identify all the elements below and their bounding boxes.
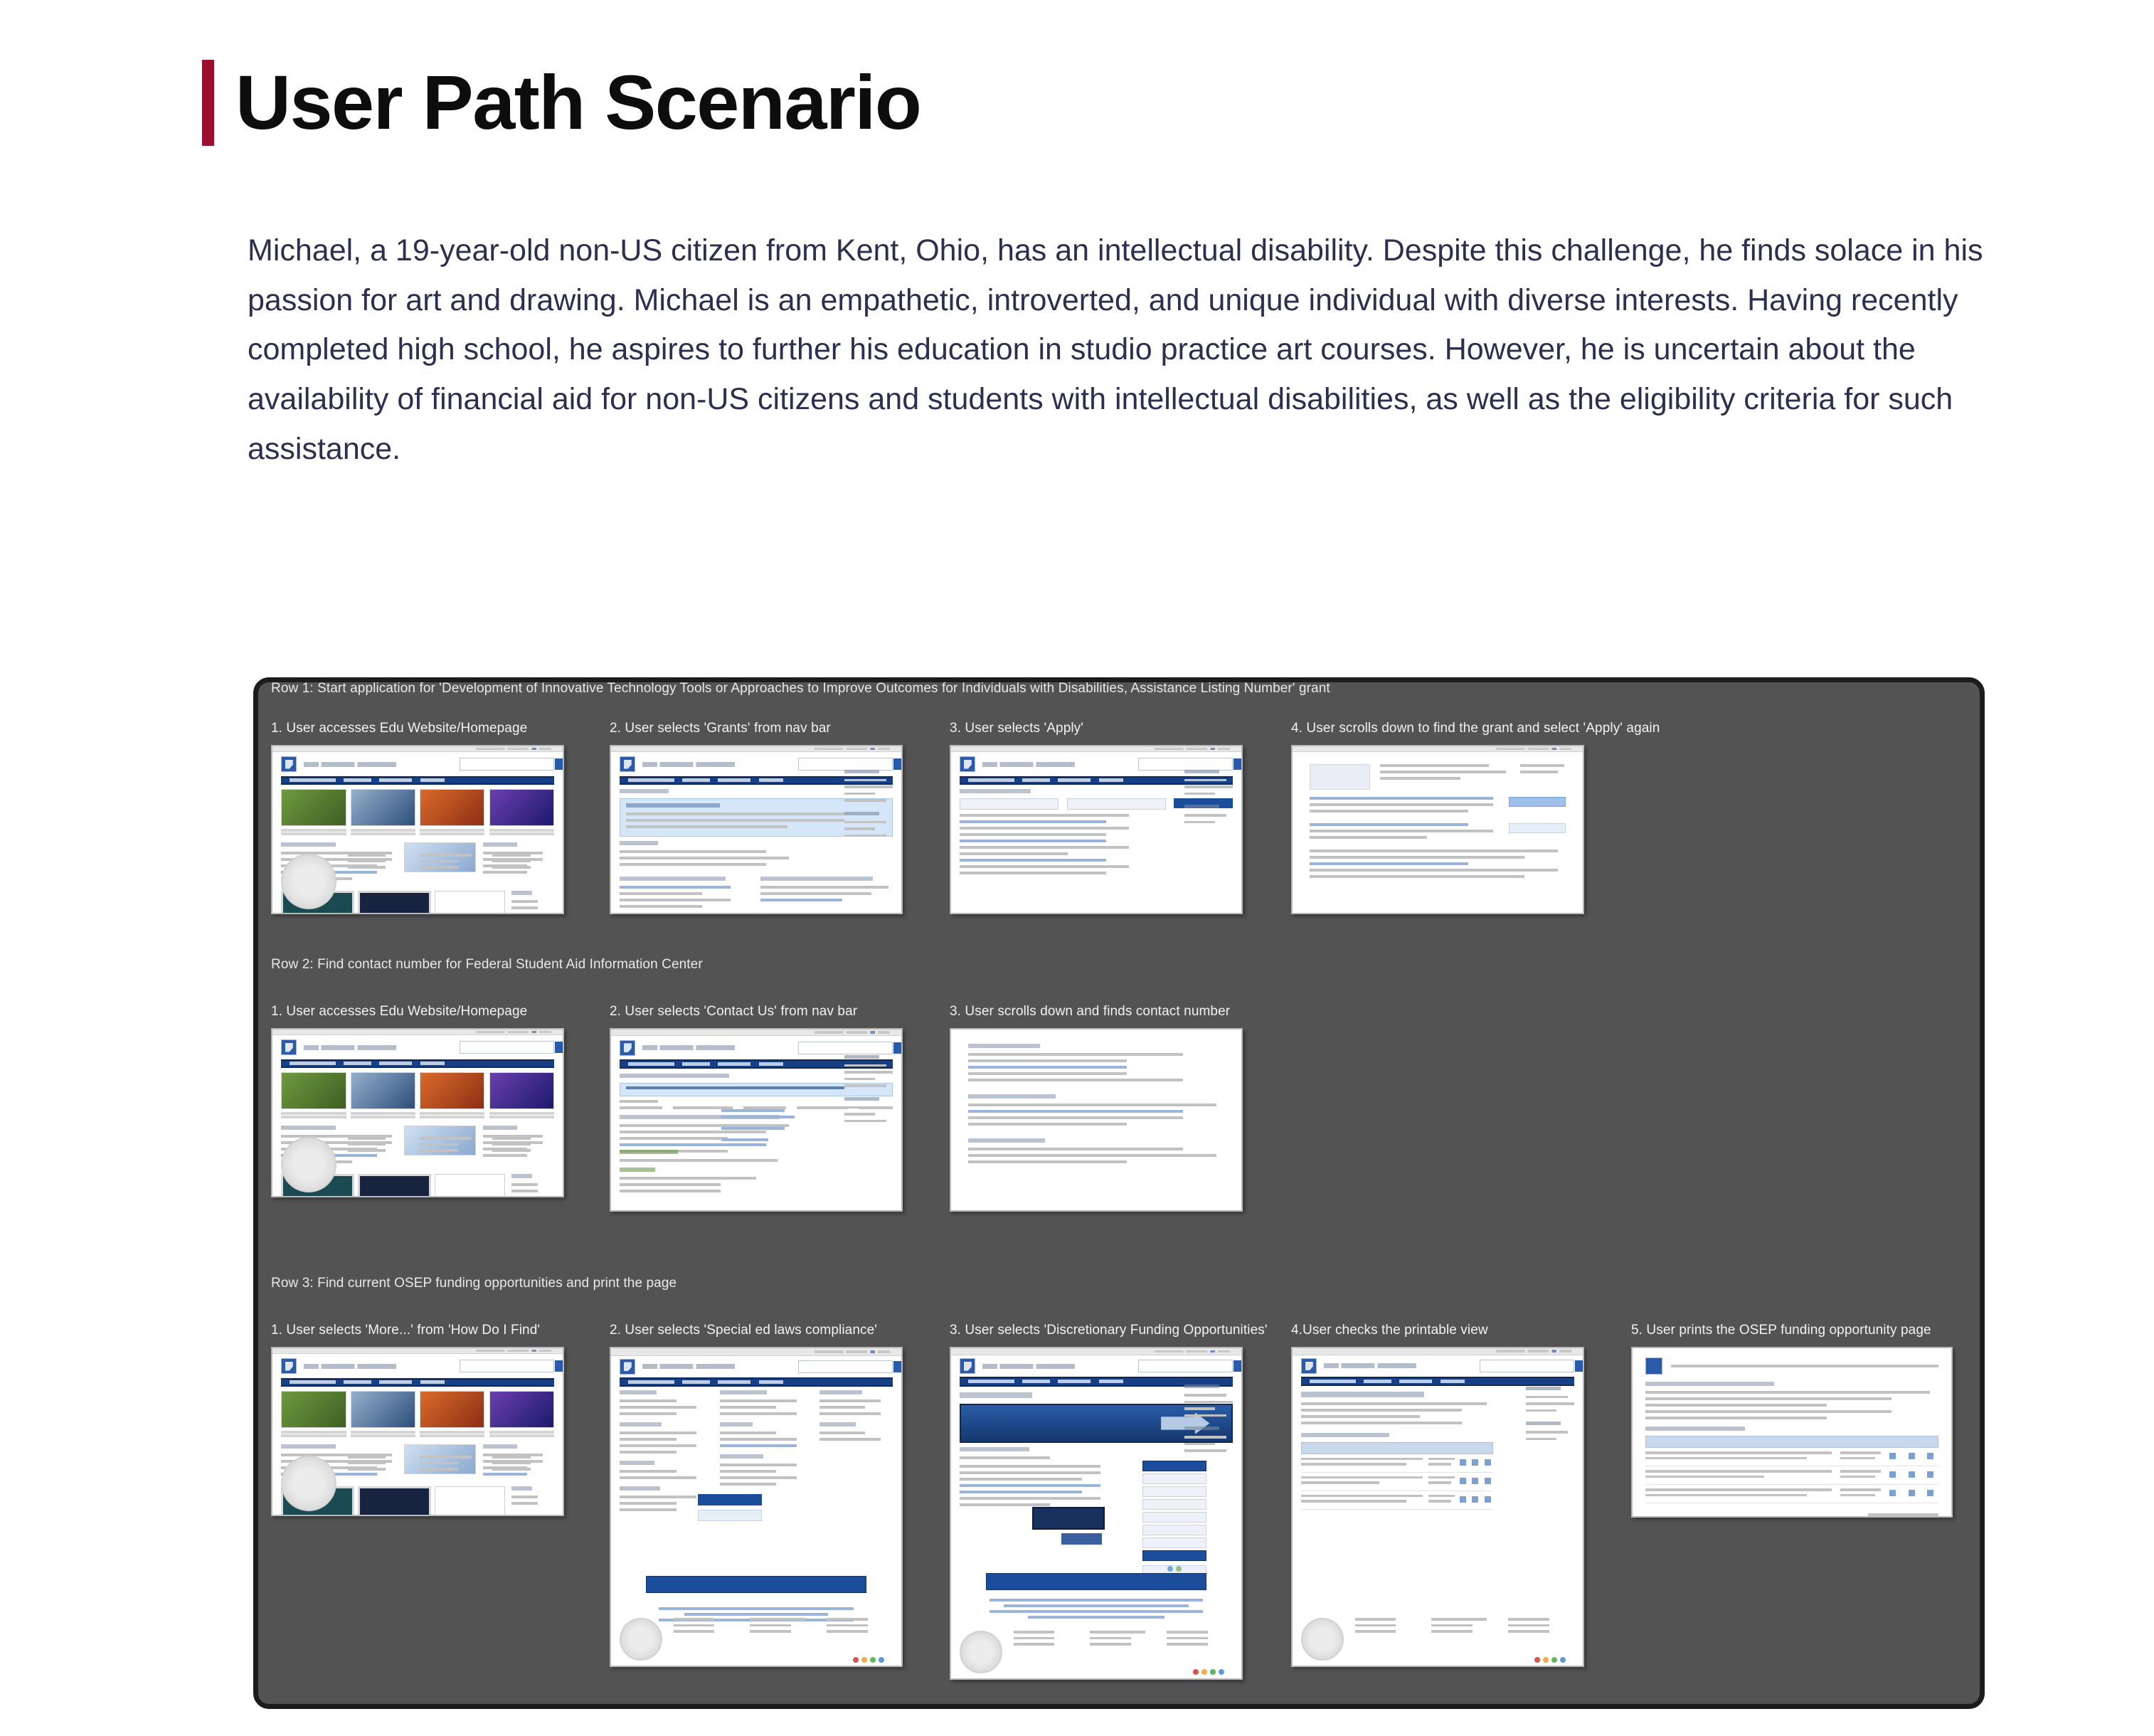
az-link[interactable] xyxy=(720,1470,777,1473)
social-icon-4[interactable] xyxy=(1560,1657,1566,1663)
programs-links xyxy=(986,1599,1206,1619)
social-icon-4[interactable] xyxy=(1219,1669,1224,1675)
funding-heading xyxy=(1301,1392,1423,1397)
main-nav[interactable] xyxy=(1301,1377,1574,1386)
main-nav[interactable] xyxy=(620,1377,893,1387)
site-header xyxy=(272,752,563,776)
cell-title xyxy=(1645,1451,1837,1462)
nav-item-3[interactable] xyxy=(718,778,750,782)
thumbnail-r3s2[interactable] xyxy=(610,1347,903,1667)
nav-item-1[interactable] xyxy=(290,1380,336,1384)
az-link[interactable] xyxy=(720,1438,797,1441)
nav-item-2[interactable] xyxy=(682,1380,709,1384)
result-link[interactable] xyxy=(960,820,1106,823)
line xyxy=(960,1497,1100,1500)
result-link[interactable] xyxy=(960,840,1106,842)
side-nav-item[interactable] xyxy=(1142,1473,1206,1484)
side-nav-item[interactable] xyxy=(1142,1525,1206,1535)
az-link[interactable] xyxy=(819,1431,865,1434)
osep-side-nav[interactable] xyxy=(1142,1461,1206,1578)
section-link[interactable] xyxy=(760,899,842,901)
az-link[interactable] xyxy=(620,1406,696,1409)
az-link[interactable] xyxy=(720,1399,797,1402)
footer-col-2 xyxy=(420,1137,482,1155)
hero-caption-1 xyxy=(281,1431,346,1437)
side-nav-item[interactable] xyxy=(1142,1512,1206,1523)
col-heading xyxy=(720,1390,768,1394)
hero-cards xyxy=(272,785,563,826)
primary-button[interactable] xyxy=(698,1494,762,1505)
full-grants-column xyxy=(760,877,893,911)
search-input[interactable] xyxy=(1480,1360,1574,1372)
footer-col-3 xyxy=(492,854,554,872)
rail-link[interactable] xyxy=(1184,821,1215,824)
search-input[interactable] xyxy=(798,1360,892,1373)
line xyxy=(1645,1417,1827,1419)
program-link[interactable] xyxy=(1004,1604,1189,1607)
nav-item-2[interactable] xyxy=(682,1062,709,1066)
social-icon-1[interactable] xyxy=(853,1657,859,1663)
contact-link[interactable] xyxy=(721,1127,785,1130)
az-link[interactable] xyxy=(620,1399,677,1402)
az-link[interactable] xyxy=(620,1431,696,1434)
share-icon-2[interactable] xyxy=(1176,1566,1182,1572)
hero-card-3[interactable] xyxy=(420,1072,484,1109)
rail-link[interactable] xyxy=(1184,814,1226,817)
hero-card-4[interactable] xyxy=(489,1391,554,1428)
hero-caption-1 xyxy=(281,1112,346,1118)
nav-item-4[interactable] xyxy=(420,1380,445,1384)
browser-chrome xyxy=(611,1348,901,1356)
print-header xyxy=(1645,1357,1938,1375)
line xyxy=(620,1183,721,1186)
how-do-i-find-heading xyxy=(483,842,517,847)
step-caption-r3s1: 1. User selects 'More...' from 'How Do I… xyxy=(271,1323,540,1338)
social-icons[interactable] xyxy=(853,1657,884,1663)
search-input[interactable] xyxy=(460,1041,553,1054)
az-link[interactable] xyxy=(620,1502,677,1505)
social-icons[interactable] xyxy=(1193,1669,1224,1675)
hero-card-4[interactable] xyxy=(489,789,554,826)
contact-number[interactable] xyxy=(968,1110,1183,1113)
thumbnail-r3s5[interactable] xyxy=(1631,1347,1953,1518)
result-line xyxy=(960,846,1128,849)
nav-item-1[interactable] xyxy=(628,1062,674,1066)
rail-link[interactable] xyxy=(1184,1414,1226,1417)
hero-card-3[interactable] xyxy=(420,1391,484,1428)
line xyxy=(960,1471,1100,1474)
rail-link[interactable] xyxy=(1526,1438,1556,1441)
callout-link[interactable] xyxy=(626,813,844,815)
site-name xyxy=(982,1364,1075,1369)
side-nav-item-selected[interactable] xyxy=(1142,1461,1206,1471)
competitions-table xyxy=(1301,1442,1492,1510)
program-link[interactable] xyxy=(1028,1616,1164,1619)
az-link[interactable] xyxy=(819,1406,865,1409)
secondary-button[interactable] xyxy=(698,1510,762,1521)
line xyxy=(1310,836,1426,839)
line xyxy=(1310,810,1468,813)
chrome-controls xyxy=(815,748,890,750)
how-do-i-find-heading xyxy=(483,1444,517,1449)
main-nav[interactable] xyxy=(281,1059,554,1068)
cell-dates xyxy=(1840,1451,1882,1462)
hero-card-1[interactable] xyxy=(281,1072,346,1109)
line xyxy=(968,1059,1127,1062)
program-link[interactable] xyxy=(990,1599,1204,1602)
link[interactable] xyxy=(1310,862,1468,865)
cell-check xyxy=(1458,1476,1468,1487)
nav-item-2[interactable] xyxy=(1022,778,1049,782)
how-do-i-find-heading xyxy=(1184,1385,1219,1388)
nav-item-1[interactable] xyxy=(628,1380,674,1384)
az-link[interactable] xyxy=(620,1470,677,1473)
table-header xyxy=(1301,1442,1492,1454)
az-link[interactable] xyxy=(620,1451,677,1454)
rail-link[interactable] xyxy=(844,821,886,824)
nav-item-2[interactable] xyxy=(344,1062,371,1065)
apply-cell xyxy=(1509,797,1566,816)
nav-item-1[interactable] xyxy=(290,1062,336,1065)
social-icon-4[interactable] xyxy=(879,1657,884,1663)
rail-link[interactable] xyxy=(1526,1396,1567,1399)
nav-item-2[interactable] xyxy=(1022,1380,1049,1383)
nav-item-contact-us[interactable] xyxy=(759,1062,784,1066)
hero-card-1[interactable] xyxy=(281,789,346,826)
rail-link[interactable] xyxy=(844,1064,886,1067)
link[interactable] xyxy=(960,1491,1081,1493)
section-link[interactable] xyxy=(620,886,731,889)
cell-check xyxy=(1470,1458,1480,1468)
nav-item-3[interactable] xyxy=(379,1062,412,1065)
line xyxy=(1310,850,1557,852)
rail-link[interactable] xyxy=(1184,1394,1226,1397)
primary-button[interactable] xyxy=(1032,1507,1105,1530)
competitions-area xyxy=(1293,1428,1502,1437)
site-footer xyxy=(960,1631,1233,1673)
social-icon-3[interactable] xyxy=(1551,1657,1557,1663)
nav-item-1[interactable] xyxy=(968,778,1014,782)
filter-select[interactable] xyxy=(960,798,1059,810)
thumbnail-r1s2[interactable] xyxy=(610,745,903,914)
browser-chrome xyxy=(1293,746,1583,752)
chrome-controls xyxy=(476,1350,551,1352)
az-link[interactable] xyxy=(720,1464,797,1466)
az-link[interactable] xyxy=(620,1496,696,1498)
page-title: User Path Scenario xyxy=(202,60,921,146)
cell-check xyxy=(1923,1488,1938,1499)
social-icon-1[interactable] xyxy=(1534,1657,1540,1663)
nav-item-4[interactable] xyxy=(759,778,784,782)
callout-link[interactable] xyxy=(626,825,787,828)
footer-col-3 xyxy=(492,1456,554,1474)
rail-link[interactable] xyxy=(844,785,892,788)
share-icon-1[interactable] xyxy=(1167,1566,1173,1572)
rail-link[interactable] xyxy=(1184,779,1226,782)
hero-card-2[interactable] xyxy=(351,1391,415,1428)
az-link[interactable] xyxy=(720,1406,777,1409)
social-icon-3[interactable] xyxy=(870,1657,876,1663)
nav-item-3[interactable] xyxy=(1058,778,1091,782)
az-link[interactable] xyxy=(720,1483,777,1486)
thumbnail-r2s2[interactable] xyxy=(610,1028,903,1212)
cell-title xyxy=(1301,1458,1426,1468)
browser-chrome xyxy=(272,1348,563,1354)
table-row xyxy=(1645,1448,1938,1466)
link[interactable] xyxy=(960,1484,1100,1487)
nav-item-2[interactable] xyxy=(344,778,371,782)
search-input[interactable] xyxy=(460,758,553,771)
nav-item-2[interactable] xyxy=(344,1380,371,1384)
band-link[interactable] xyxy=(659,1607,854,1610)
nav-item-1[interactable] xyxy=(628,778,674,782)
line xyxy=(968,1148,1183,1150)
az-link[interactable] xyxy=(620,1444,696,1447)
line xyxy=(1520,771,1559,773)
contact-link[interactable] xyxy=(721,1109,785,1112)
col-heading xyxy=(620,1486,660,1491)
search-input[interactable] xyxy=(798,1042,892,1054)
rail-link[interactable] xyxy=(844,799,886,802)
apply-button[interactable] xyxy=(1509,823,1566,833)
contact-link[interactable] xyxy=(721,1116,795,1118)
nav-item-4[interactable] xyxy=(420,778,445,782)
thumbnail-r3s1[interactable] xyxy=(271,1347,564,1516)
rail-link[interactable] xyxy=(1184,1436,1226,1439)
nav-item-3[interactable] xyxy=(379,1380,412,1384)
line xyxy=(968,1079,1183,1081)
nav-item-4[interactable] xyxy=(1099,1380,1124,1383)
rail-link[interactable] xyxy=(844,793,875,795)
main-nav[interactable] xyxy=(281,776,554,785)
cell-check xyxy=(1482,1458,1493,1468)
footer-col-2 xyxy=(420,854,482,872)
band-link[interactable] xyxy=(684,1613,828,1616)
section-line xyxy=(620,892,701,895)
rail-link[interactable] xyxy=(1184,1443,1215,1446)
tab-4[interactable] xyxy=(797,1106,848,1109)
ed-logo-icon xyxy=(960,1358,975,1374)
rail-link[interactable] xyxy=(1526,1402,1574,1405)
screenshot-contact-page xyxy=(611,1030,901,1210)
browser-chrome xyxy=(272,1030,563,1035)
main-nav[interactable] xyxy=(281,1378,554,1387)
chrome-controls xyxy=(1155,748,1230,750)
thumbnail-r2s1[interactable] xyxy=(271,1028,564,1197)
title-accent-bar xyxy=(202,60,214,146)
screenshot-ed-homepage xyxy=(272,1030,563,1196)
cell-check xyxy=(1482,1495,1493,1505)
social-icon-2[interactable] xyxy=(861,1657,867,1663)
rail-link[interactable] xyxy=(1184,1449,1226,1452)
rail-link[interactable] xyxy=(1184,1407,1215,1410)
rail-link[interactable] xyxy=(844,779,886,782)
rail-link[interactable] xyxy=(844,1106,886,1109)
col-heading xyxy=(620,1390,657,1394)
result-link[interactable] xyxy=(960,859,1106,862)
information-about-heading xyxy=(1526,1422,1561,1425)
ed-seal-icon xyxy=(960,1631,1002,1673)
thumbnail-r3s3[interactable] xyxy=(950,1347,1243,1680)
az-link[interactable] xyxy=(620,1476,696,1479)
hero-caption-4 xyxy=(489,829,554,835)
side-nav-item[interactable] xyxy=(1142,1537,1206,1548)
hero-card-4[interactable] xyxy=(489,1072,554,1109)
rail-link[interactable] xyxy=(1184,785,1232,788)
grant-desc xyxy=(1310,823,1498,842)
footer-col-3 xyxy=(1167,1631,1233,1649)
line xyxy=(1645,1404,1827,1407)
grant-desc xyxy=(1310,797,1498,816)
cell-title xyxy=(1301,1476,1426,1487)
center-button-area xyxy=(1032,1507,1102,1530)
section-heading xyxy=(620,877,726,881)
hero-caption-1 xyxy=(281,829,346,835)
nav-item-4[interactable] xyxy=(1099,778,1124,782)
cell-check xyxy=(1884,1488,1900,1499)
links-column xyxy=(721,1109,797,1145)
site-header xyxy=(272,1035,563,1059)
social-icon-2[interactable] xyxy=(1543,1657,1549,1663)
grant-thumb xyxy=(1310,764,1369,790)
thumbnail-r2s3[interactable] xyxy=(950,1028,1243,1212)
chrome-controls xyxy=(1496,1350,1571,1353)
info-link[interactable] xyxy=(511,913,538,914)
search-input[interactable] xyxy=(460,1360,553,1372)
az-link[interactable] xyxy=(720,1476,797,1479)
callout-link[interactable] xyxy=(626,1086,844,1089)
grant-title-link[interactable] xyxy=(1310,797,1492,800)
thumbnail-r1s3[interactable] xyxy=(950,745,1243,914)
rail-link[interactable] xyxy=(844,1113,875,1116)
nav-item-3[interactable] xyxy=(718,1062,750,1066)
nav-item-1[interactable] xyxy=(968,1380,1014,1383)
az-link[interactable] xyxy=(720,1412,797,1415)
nav-item-2[interactable] xyxy=(1364,1380,1391,1383)
nav-item-grants[interactable] xyxy=(682,778,709,782)
tab-general[interactable] xyxy=(620,1106,662,1109)
nav-item-1[interactable] xyxy=(1310,1380,1356,1383)
screenshot-osep-page xyxy=(951,1348,1241,1678)
side-nav-item[interactable] xyxy=(1142,1499,1206,1510)
hero-card-2[interactable] xyxy=(351,1072,415,1109)
page-title-text: User Path Scenario xyxy=(235,60,921,146)
side-nav-item-discretionary-funding[interactable] xyxy=(1142,1550,1206,1561)
nav-item-1[interactable] xyxy=(290,778,336,782)
center-buttons xyxy=(698,1494,762,1521)
info-link[interactable] xyxy=(511,1196,538,1197)
line xyxy=(1310,830,1492,832)
search-input[interactable] xyxy=(798,758,892,771)
scrolled-content xyxy=(951,1030,1241,1163)
line xyxy=(620,1159,778,1162)
az-link[interactable] xyxy=(819,1438,881,1441)
apply-button[interactable] xyxy=(1509,797,1566,807)
az-link[interactable] xyxy=(819,1399,881,1402)
table-row xyxy=(1301,1454,1492,1473)
social-icons[interactable] xyxy=(1534,1657,1566,1663)
right-rail xyxy=(1526,1387,1575,1445)
line xyxy=(968,1072,1127,1075)
rail-link[interactable] xyxy=(844,835,886,837)
search-input[interactable] xyxy=(1138,1360,1232,1372)
az-link[interactable] xyxy=(620,1508,677,1511)
line xyxy=(1380,771,1506,773)
ed-logo-icon xyxy=(620,1359,635,1375)
social-icon-1[interactable] xyxy=(1193,1669,1199,1675)
print-footer xyxy=(1645,1513,1938,1516)
rail-link[interactable] xyxy=(1526,1409,1556,1412)
col-heading xyxy=(620,1461,654,1465)
social-icon-2[interactable] xyxy=(1201,1669,1207,1675)
rail-link[interactable] xyxy=(1184,1401,1232,1404)
grant-title-link[interactable] xyxy=(1310,823,1468,826)
az-link[interactable] xyxy=(620,1438,677,1441)
rail-link[interactable] xyxy=(844,827,875,830)
hero-card-3[interactable] xyxy=(420,789,484,826)
site-name xyxy=(642,1364,735,1369)
az-link[interactable] xyxy=(620,1412,677,1415)
chrome-controls xyxy=(815,1031,890,1033)
filter-select[interactable] xyxy=(1067,798,1166,810)
secondary-button[interactable] xyxy=(1061,1533,1102,1545)
hero-caption-4 xyxy=(489,1112,554,1118)
thumbnail-r1s4[interactable] xyxy=(1291,745,1584,914)
table-header xyxy=(1645,1436,1938,1448)
thumbnail-r3s4[interactable] xyxy=(1291,1347,1584,1667)
side-nav-item[interactable] xyxy=(1142,1486,1206,1497)
information-about-heading xyxy=(844,1097,879,1101)
nav-item-4[interactable] xyxy=(1441,1380,1465,1383)
ed-seal-icon xyxy=(1301,1618,1344,1661)
cell-dates xyxy=(1428,1495,1455,1505)
grant-row xyxy=(1310,797,1565,816)
program-link[interactable] xyxy=(990,1610,1204,1613)
rail-link[interactable] xyxy=(844,1084,886,1087)
line xyxy=(1301,1409,1462,1412)
phone-link[interactable] xyxy=(968,1066,1127,1069)
special-ed-link[interactable] xyxy=(720,1444,797,1447)
rail-link[interactable] xyxy=(844,1120,886,1123)
footer-col-1 xyxy=(348,854,410,872)
right-rail xyxy=(844,1055,893,1127)
rail-link[interactable] xyxy=(844,1078,875,1081)
section-heading-green xyxy=(620,1168,655,1172)
nav-item-3[interactable] xyxy=(1399,1380,1432,1383)
callout-link[interactable] xyxy=(626,819,844,822)
hero-card-2[interactable] xyxy=(351,789,415,826)
rail-link[interactable] xyxy=(1526,1431,1567,1434)
az-link[interactable] xyxy=(819,1412,881,1415)
rail-link[interactable] xyxy=(1184,793,1215,795)
nav-item-4[interactable] xyxy=(759,1380,784,1384)
nav-item-3[interactable] xyxy=(379,778,412,782)
thumbnail-r1s1[interactable] xyxy=(271,745,564,914)
nav-item-contact-us[interactable] xyxy=(420,1062,445,1065)
nav-item-3[interactable] xyxy=(1058,1380,1091,1383)
contact-link[interactable] xyxy=(721,1138,768,1141)
hero-card-1[interactable] xyxy=(281,1391,346,1428)
line xyxy=(960,1456,1049,1459)
rail-link[interactable] xyxy=(844,1071,892,1074)
footer-col-2 xyxy=(1431,1618,1497,1636)
search-input[interactable] xyxy=(1138,758,1232,771)
social-icon-3[interactable] xyxy=(1210,1669,1216,1675)
nav-item-3[interactable] xyxy=(718,1380,750,1384)
browser-chrome xyxy=(611,746,901,752)
screenshot-printable-view xyxy=(1293,1348,1583,1666)
az-link[interactable] xyxy=(720,1431,777,1434)
